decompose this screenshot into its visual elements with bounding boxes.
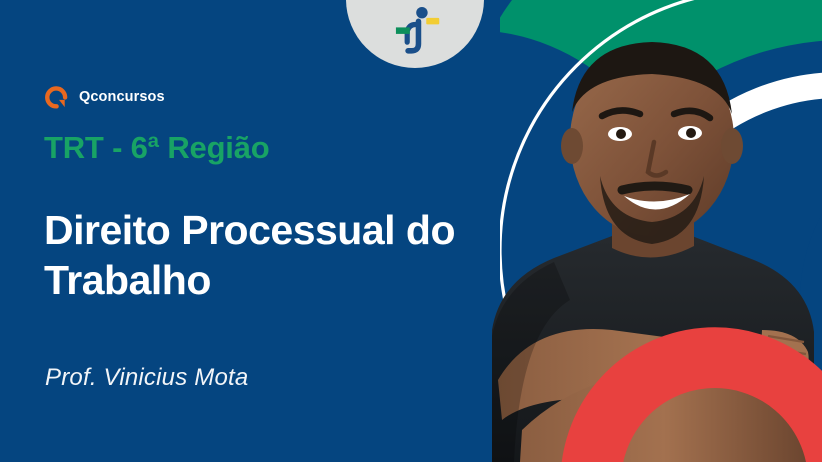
content-column: Qconcursos TRT - 6ª Região Direito Proce…: [44, 0, 514, 462]
shirt-brand-print: Qconcursos TIME DE PROFESSORES: [530, 244, 747, 462]
eye-right: [686, 128, 696, 138]
moustache: [622, 186, 688, 190]
ear-left: [561, 128, 583, 164]
page-title: Direito Processual do Trabalho: [44, 205, 514, 305]
qconcursos-q-icon: [530, 232, 822, 462]
brand-name: Qconcursos: [79, 89, 165, 105]
brand-lockup: Qconcursos: [44, 84, 165, 110]
qconcursos-q-icon: [44, 84, 70, 110]
instructor-portrait: Qconcursos TIME DE PROFESSORES: [462, 0, 822, 462]
eye-left: [616, 129, 626, 139]
presenter-name: Prof. Vinicius Mota: [45, 364, 248, 392]
course-region-label: TRT - 6ª Região: [44, 130, 270, 166]
title-slide: Qconcursos TRT - 6ª Região Direito Proce…: [0, 0, 822, 462]
ear-right: [721, 128, 743, 164]
